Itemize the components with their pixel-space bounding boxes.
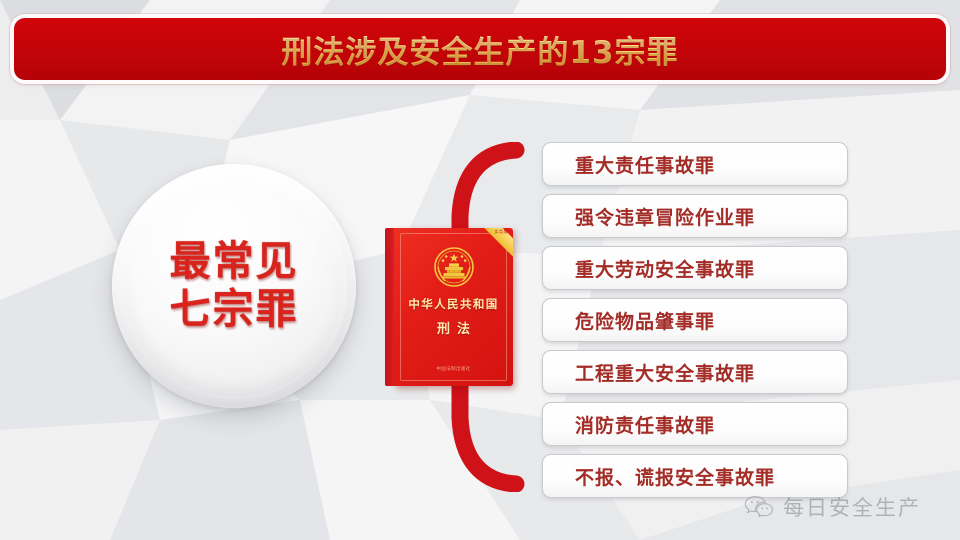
crime-list: 重大责任事故罪 强令违章冒险作业罪 重大劳动安全事故罪 危险物品肇事罪 工程重大… <box>542 142 846 506</box>
book-title-sub: 刑法 <box>394 318 513 337</box>
crime-item[interactable]: 重大责任事故罪 <box>542 142 848 186</box>
page-title: 刑法涉及安全生产的13宗罪 <box>281 27 678 72</box>
book-publisher: 中国法制出版社 <box>394 366 513 372</box>
watermark: 每日安全生产 <box>744 492 921 522</box>
national-emblem-icon <box>432 245 476 289</box>
crime-label: 重大劳动安全事故罪 <box>543 255 755 282</box>
criminal-law-book: 实用版 中华人民共和国 刑法 <box>385 228 513 386</box>
title-banner: 刑法涉及安全生产的13宗罪 <box>14 18 946 80</box>
crime-item[interactable]: 消防责任事故罪 <box>542 402 848 446</box>
most-common-badge: 最常见 七宗罪 <box>112 164 356 408</box>
book-cover: 实用版 中华人民共和国 刑法 <box>394 228 513 386</box>
crime-label: 工程重大安全事故罪 <box>543 359 755 386</box>
crime-item[interactable]: 工程重大安全事故罪 <box>542 350 848 394</box>
book-corner-label: 实用版 <box>495 229 509 235</box>
book-title-main: 中华人民共和国 <box>394 296 513 312</box>
crime-label: 强令违章冒险作业罪 <box>543 203 755 230</box>
watermark-text: 每日安全生产 <box>783 492 921 522</box>
badge-line-1: 最常见 <box>170 238 299 286</box>
crime-item[interactable]: 重大劳动安全事故罪 <box>542 246 848 290</box>
slide-root: 刑法涉及安全生产的13宗罪 最常见 七宗罪 实用版 <box>0 0 960 540</box>
wechat-icon <box>744 494 774 520</box>
crime-label: 危险物品肇事罪 <box>543 307 715 334</box>
crime-label: 消防责任事故罪 <box>543 411 715 438</box>
crime-item[interactable]: 危险物品肇事罪 <box>542 298 848 342</box>
crime-item[interactable]: 强令违章冒险作业罪 <box>542 194 848 238</box>
badge-line-2: 七宗罪 <box>170 286 299 334</box>
crime-label: 不报、谎报安全事故罪 <box>543 463 775 490</box>
crime-label: 重大责任事故罪 <box>543 151 715 178</box>
